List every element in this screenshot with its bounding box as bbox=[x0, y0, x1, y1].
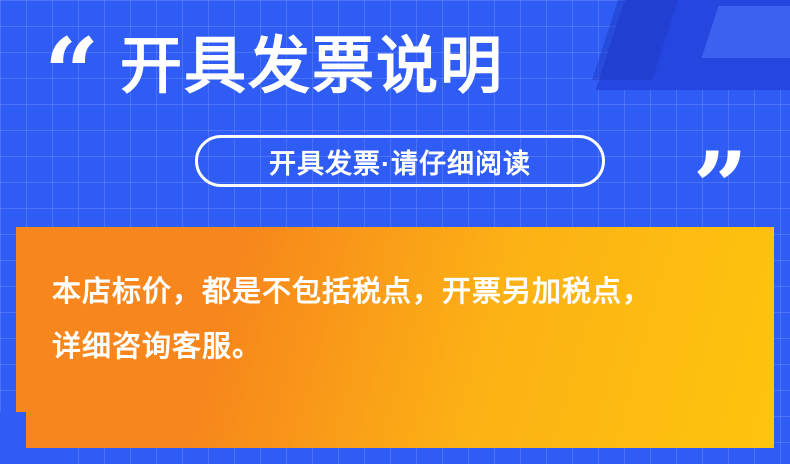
subtitle-pill: 开具发票·请仔细阅读 bbox=[195, 135, 605, 187]
decorative-block-2 bbox=[702, 6, 790, 58]
invoice-notice-banner: “ 开具发票说明 开具发票·请仔细阅读 ” 本店标价，都是不包括税点，开票另加税… bbox=[0, 0, 790, 464]
notice-panel: 本店标价，都是不包括税点，开票另加税点， 详细咨询客服。 bbox=[16, 227, 774, 448]
quote-close-icon: ” bbox=[693, 140, 744, 236]
notice-line-1: 本店标价，都是不包括税点，开票另加税点， bbox=[52, 265, 738, 320]
corner-accent-2 bbox=[0, 448, 56, 464]
subtitle-text: 开具发票·请仔细阅读 bbox=[269, 142, 531, 181]
page-title: 开具发票说明 bbox=[120, 36, 504, 98]
quote-open-icon: “ bbox=[44, 26, 95, 122]
notice-line-2: 详细咨询客服。 bbox=[52, 320, 738, 375]
